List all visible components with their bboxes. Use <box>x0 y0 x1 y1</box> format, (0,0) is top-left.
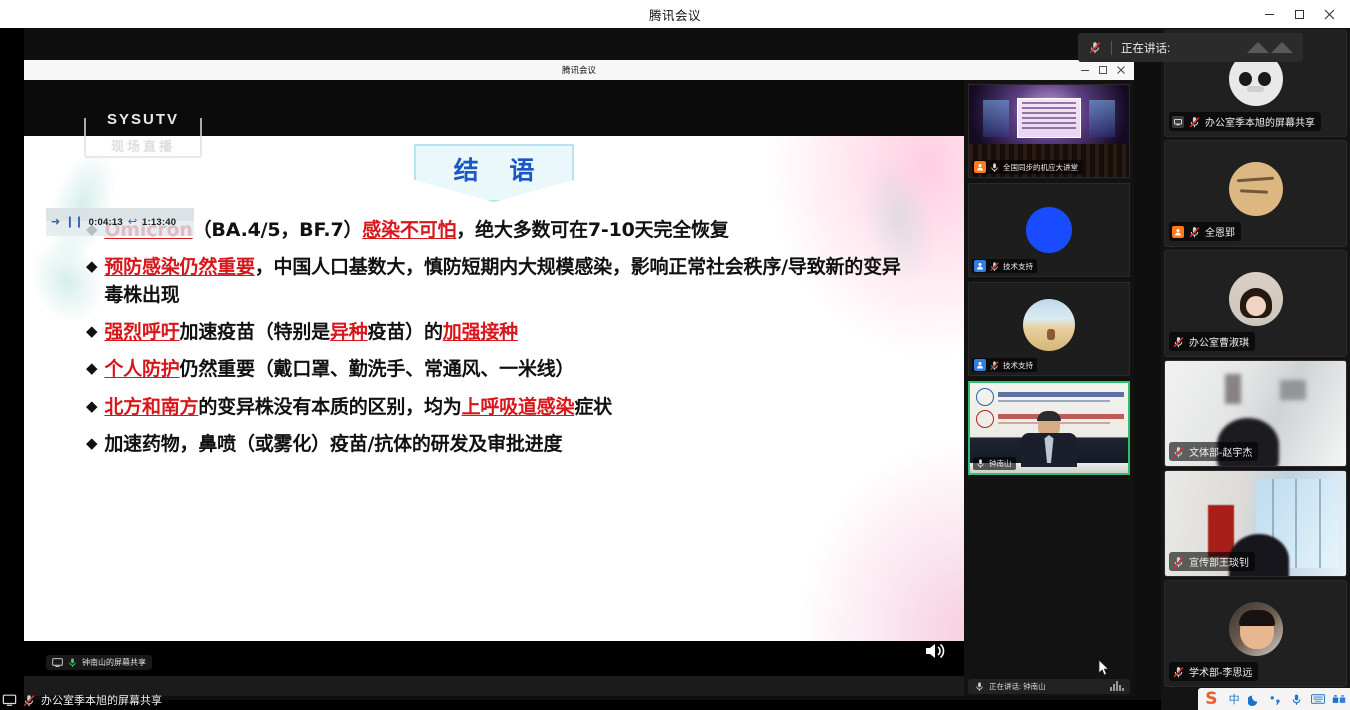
bullet-highlight-text: 异种 <box>330 321 368 343</box>
popup-divider <box>1111 41 1112 55</box>
inner-share-status: 钟南山的屏幕共享 <box>46 655 152 670</box>
inner-thumbnail-tile[interactable]: 钟南山 <box>968 381 1130 475</box>
window-controls <box>1254 0 1344 28</box>
participant-label: 文体部-赵宇杰 <box>1169 442 1258 461</box>
window-title: 腾讯会议 <box>0 5 1350 24</box>
inner-participant-thumbnails[interactable]: 全国同步的机应大讲堂 技术支持 技术支持 钟南山 <box>964 80 1134 696</box>
window-titlebar: 腾讯会议 <box>0 0 1350 28</box>
arrow-right-icon[interactable]: ➜ <box>51 217 60 228</box>
outer-share-status: 办公室季本旭的屏幕共享 <box>2 692 162 708</box>
slide-bullet: ◆强烈呼吁加速疫苗（特别是异种疫苗）的加强接种 <box>86 318 916 346</box>
participant-tile[interactable]: 宣传部王琰钊 <box>1164 470 1347 577</box>
inner-window-controls <box>1076 60 1130 80</box>
thumbnail-label: 全国同步的机应大讲堂 <box>972 160 1082 174</box>
avatar <box>1229 162 1283 216</box>
bullet-plain-text: 仍然重要（戴口罩、勤洗手、常通风、一米线） <box>180 358 575 380</box>
slide-top-letterbox <box>24 80 964 136</box>
thumbnail-name: 全国同步的机应大讲堂 <box>1003 162 1078 173</box>
thumbnail-name: 技术支持 <box>1003 261 1033 272</box>
sogou-logo-icon[interactable]: S <box>1201 689 1222 709</box>
slide-bullet: ◆预防感染仍然重要，中国人口基数大，慎防短期内大规模感染，影响正常社会秩序/导致… <box>86 253 916 309</box>
bullet-plain-text: 加速疫苗（特别是 <box>180 321 330 343</box>
chevron-up-icon[interactable] <box>1247 42 1293 53</box>
slide-bullet: ◆加速药物，鼻喷（或雾化）疫苗/抗体的研发及审批进度 <box>86 430 916 458</box>
screen-share-icon <box>52 657 63 668</box>
outer-share-status-label: 办公室季本旭的屏幕共享 <box>41 692 162 708</box>
minimize-button[interactable] <box>1254 1 1284 27</box>
bullet-highlight-text: 预防感染仍然重要 <box>104 256 254 278</box>
keyboard-icon[interactable] <box>1309 690 1326 708</box>
slide-bullet-list: ◆Omicron（BA.4/5，BF.7）感染不可怕，绝大多数可在7-10天完全… <box>86 216 916 467</box>
bullet-plain-text: 疫苗）的 <box>368 321 443 343</box>
bullet-highlight-text: 上呼吸道感染 <box>462 396 575 418</box>
thumbnail-name: 钟南山 <box>989 458 1012 469</box>
thumbnail-name: 技术支持 <box>1003 360 1033 371</box>
inner-speaking-label: 正在讲话: 钟南山 <box>989 681 1046 692</box>
bullet-text: 加速药物，鼻喷（或雾化）疫苗/抗体的研发及审批进度 <box>104 430 916 458</box>
mic-muted-icon <box>1172 335 1185 349</box>
user-badge-icon <box>974 359 986 371</box>
speaker-volume-icon[interactable] <box>924 641 946 666</box>
microphone-icon[interactable] <box>1288 690 1305 708</box>
mic-on-icon <box>975 458 986 469</box>
participant-name: 全恩郢 <box>1205 224 1235 239</box>
slide-bullet: ◆北方和南方的变异株没有本质的区别，均为上呼吸道感染症状 <box>86 393 916 421</box>
avatar <box>1229 602 1283 656</box>
bullet-text: 个人防护仍然重要（戴口罩、勤洗手、常通风、一米线） <box>104 355 916 383</box>
participant-tile[interactable]: 学术部-李思远 <box>1164 580 1347 687</box>
mic-muted-icon <box>22 693 36 708</box>
participant-sidebar[interactable]: 办公室季本旭的屏幕共享 全恩郢 办公室曹淑琪 文体部-赵宇杰 <box>1161 28 1350 710</box>
bullet-highlight-text: 强烈呼吁 <box>104 321 179 343</box>
thumbnail-label: 技术支持 <box>972 358 1037 372</box>
punctuation-icon[interactable] <box>1267 690 1284 708</box>
share-area: 腾讯会议 <box>24 28 1161 700</box>
inner-thumbnail-tile[interactable]: 全国同步的机应大讲堂 <box>968 84 1130 178</box>
bullet-marker-icon: ◆ <box>86 430 97 456</box>
participant-tile[interactable]: 文体部-赵宇杰 <box>1164 360 1347 467</box>
mic-icon <box>974 681 985 692</box>
screen-share-badge-icon <box>1172 116 1184 128</box>
participant-label: 全恩郢 <box>1169 222 1241 241</box>
mic-on-icon <box>67 657 78 668</box>
mic-muted-icon <box>1172 445 1185 459</box>
slide-bullet: ◆Omicron（BA.4/5，BF.7）感染不可怕，绝大多数可在7-10天完全… <box>86 216 916 244</box>
bullet-text: 北方和南方的变异株没有本质的区别，均为上呼吸道感染症状 <box>104 393 916 421</box>
pause-icon[interactable]: ❙❙ <box>65 217 83 228</box>
host-badge-icon <box>974 161 986 173</box>
bullet-text: 预防感染仍然重要，中国人口基数大，慎防短期内大规模感染，影响正常社会秩序/导致新… <box>104 253 916 309</box>
maximize-button[interactable] <box>1284 1 1314 27</box>
slide-title-banner: 结 语 <box>24 144 964 202</box>
participant-name: 文体部-赵宇杰 <box>1189 444 1252 459</box>
bullet-plain-text: ，绝大多数可在7-10天完全恢复 <box>456 219 728 241</box>
bullet-plain-text: 症状 <box>574 396 612 418</box>
bullet-text: Omicron（BA.4/5，BF.7）感染不可怕，绝大多数可在7-10天完全恢… <box>104 216 916 244</box>
participant-name: 办公室季本旭的屏幕共享 <box>1205 114 1315 129</box>
sound-wave-icon <box>1110 681 1124 691</box>
inner-meeting-window: 腾讯会议 <box>24 60 1134 696</box>
replay-arrow-icon[interactable]: ↩ <box>128 217 137 228</box>
bullet-marker-icon: ◆ <box>86 318 97 344</box>
inner-maximize-button[interactable] <box>1094 61 1112 79</box>
sogou-ime-toolbar[interactable]: S 中 <box>1198 688 1350 710</box>
inner-close-button[interactable] <box>1112 61 1130 79</box>
bullet-highlight-text: 感染不可怕 <box>362 219 456 241</box>
inner-share-status-label: 钟南山的屏幕共享 <box>82 657 146 668</box>
left-edge-filler <box>0 28 24 710</box>
mic-muted-icon <box>1172 555 1185 569</box>
bullet-highlight-text: 北方和南方 <box>104 396 198 418</box>
screen-share-icon <box>2 693 17 707</box>
bullet-plain-text: （BA.4/5，BF.7） <box>193 219 363 241</box>
mic-muted-icon <box>1088 40 1102 55</box>
inner-window-titlebar: 腾讯会议 <box>24 60 1134 80</box>
bullet-plain-text: 的变异株没有本质的区别，均为 <box>198 396 461 418</box>
meeting-app-window: 腾讯会议 腾讯会议 <box>0 0 1350 710</box>
participant-name: 宣传部王琰钊 <box>1189 554 1249 569</box>
participant-label: 办公室季本旭的屏幕共享 <box>1169 112 1321 131</box>
thumbnail-label: 技术支持 <box>972 259 1037 273</box>
toolbox-icon[interactable] <box>1330 690 1347 708</box>
slide-bottom-letterbox <box>24 641 964 676</box>
bullet-marker-icon: ◆ <box>86 393 97 419</box>
mic-muted-icon <box>1188 225 1201 239</box>
mouse-cursor <box>1098 659 1110 682</box>
inner-minimize-button[interactable] <box>1076 61 1094 79</box>
moon-icon[interactable] <box>1247 690 1264 708</box>
slide-title: 结 语 <box>414 144 574 202</box>
video-player-controls[interactable]: ➜ ❙❙ 0:04:13 ↩ 1:13:40 <box>46 208 194 236</box>
presentation-slide-area: 结 语 ◆Omicron（BA.4/5，BF.7）感染不可怕，绝大多数可在7-1… <box>24 80 964 676</box>
player-total-time: 1:13:40 <box>142 217 176 228</box>
shared-screen-stage[interactable]: 腾讯会议 <box>24 28 1161 700</box>
inner-thumbnail-tile[interactable]: 技术支持 <box>968 282 1130 376</box>
mic-muted-icon <box>1188 115 1201 129</box>
bullet-text: 强烈呼吁加速疫苗（特别是异种疫苗）的加强接种 <box>104 318 916 346</box>
speaking-popup[interactable]: 正在讲话: <box>1078 33 1303 62</box>
mic-muted-icon <box>1172 665 1185 679</box>
mic-muted-icon <box>989 360 1000 371</box>
bullet-highlight-text: 个人防护 <box>104 358 179 380</box>
avatar <box>1229 272 1283 326</box>
participant-label: 宣传部王琰钊 <box>1169 552 1255 571</box>
inner-window-title: 腾讯会议 <box>24 64 1134 76</box>
participant-label: 学术部-李思远 <box>1169 662 1258 681</box>
mic-muted-icon <box>989 261 1000 272</box>
bullet-marker-icon: ◆ <box>86 253 97 279</box>
slide-bullet: ◆个人防护仍然重要（戴口罩、勤洗手、常通风、一米线） <box>86 355 916 383</box>
participant-tile[interactable]: 办公室曹淑琪 <box>1164 250 1347 357</box>
inner-thumbnail-tile[interactable]: 技术支持 <box>968 183 1130 277</box>
close-button[interactable] <box>1314 1 1344 27</box>
ime-language-mode[interactable]: 中 <box>1226 690 1243 708</box>
speaking-popup-label: 正在讲话: <box>1121 40 1170 56</box>
participant-tile[interactable]: 全恩郢 <box>1164 140 1347 247</box>
bullet-plain-text: 加速药物，鼻喷（或雾化）疫苗/抗体的研发及审批进度 <box>104 433 562 455</box>
user-badge-icon <box>974 260 986 272</box>
mic-on-icon <box>989 162 1000 173</box>
participant-name: 办公室曹淑琪 <box>1189 334 1249 349</box>
bullet-highlight-text: 加强接种 <box>443 321 518 343</box>
participant-label: 办公室曹淑琪 <box>1169 332 1255 351</box>
player-current-time: 0:04:13 <box>89 217 123 228</box>
thumbnail-label: 钟南山 <box>973 457 1016 470</box>
host-badge-icon <box>1172 226 1184 238</box>
participant-name: 学术部-李思远 <box>1189 664 1252 679</box>
bullet-marker-icon: ◆ <box>86 355 97 381</box>
